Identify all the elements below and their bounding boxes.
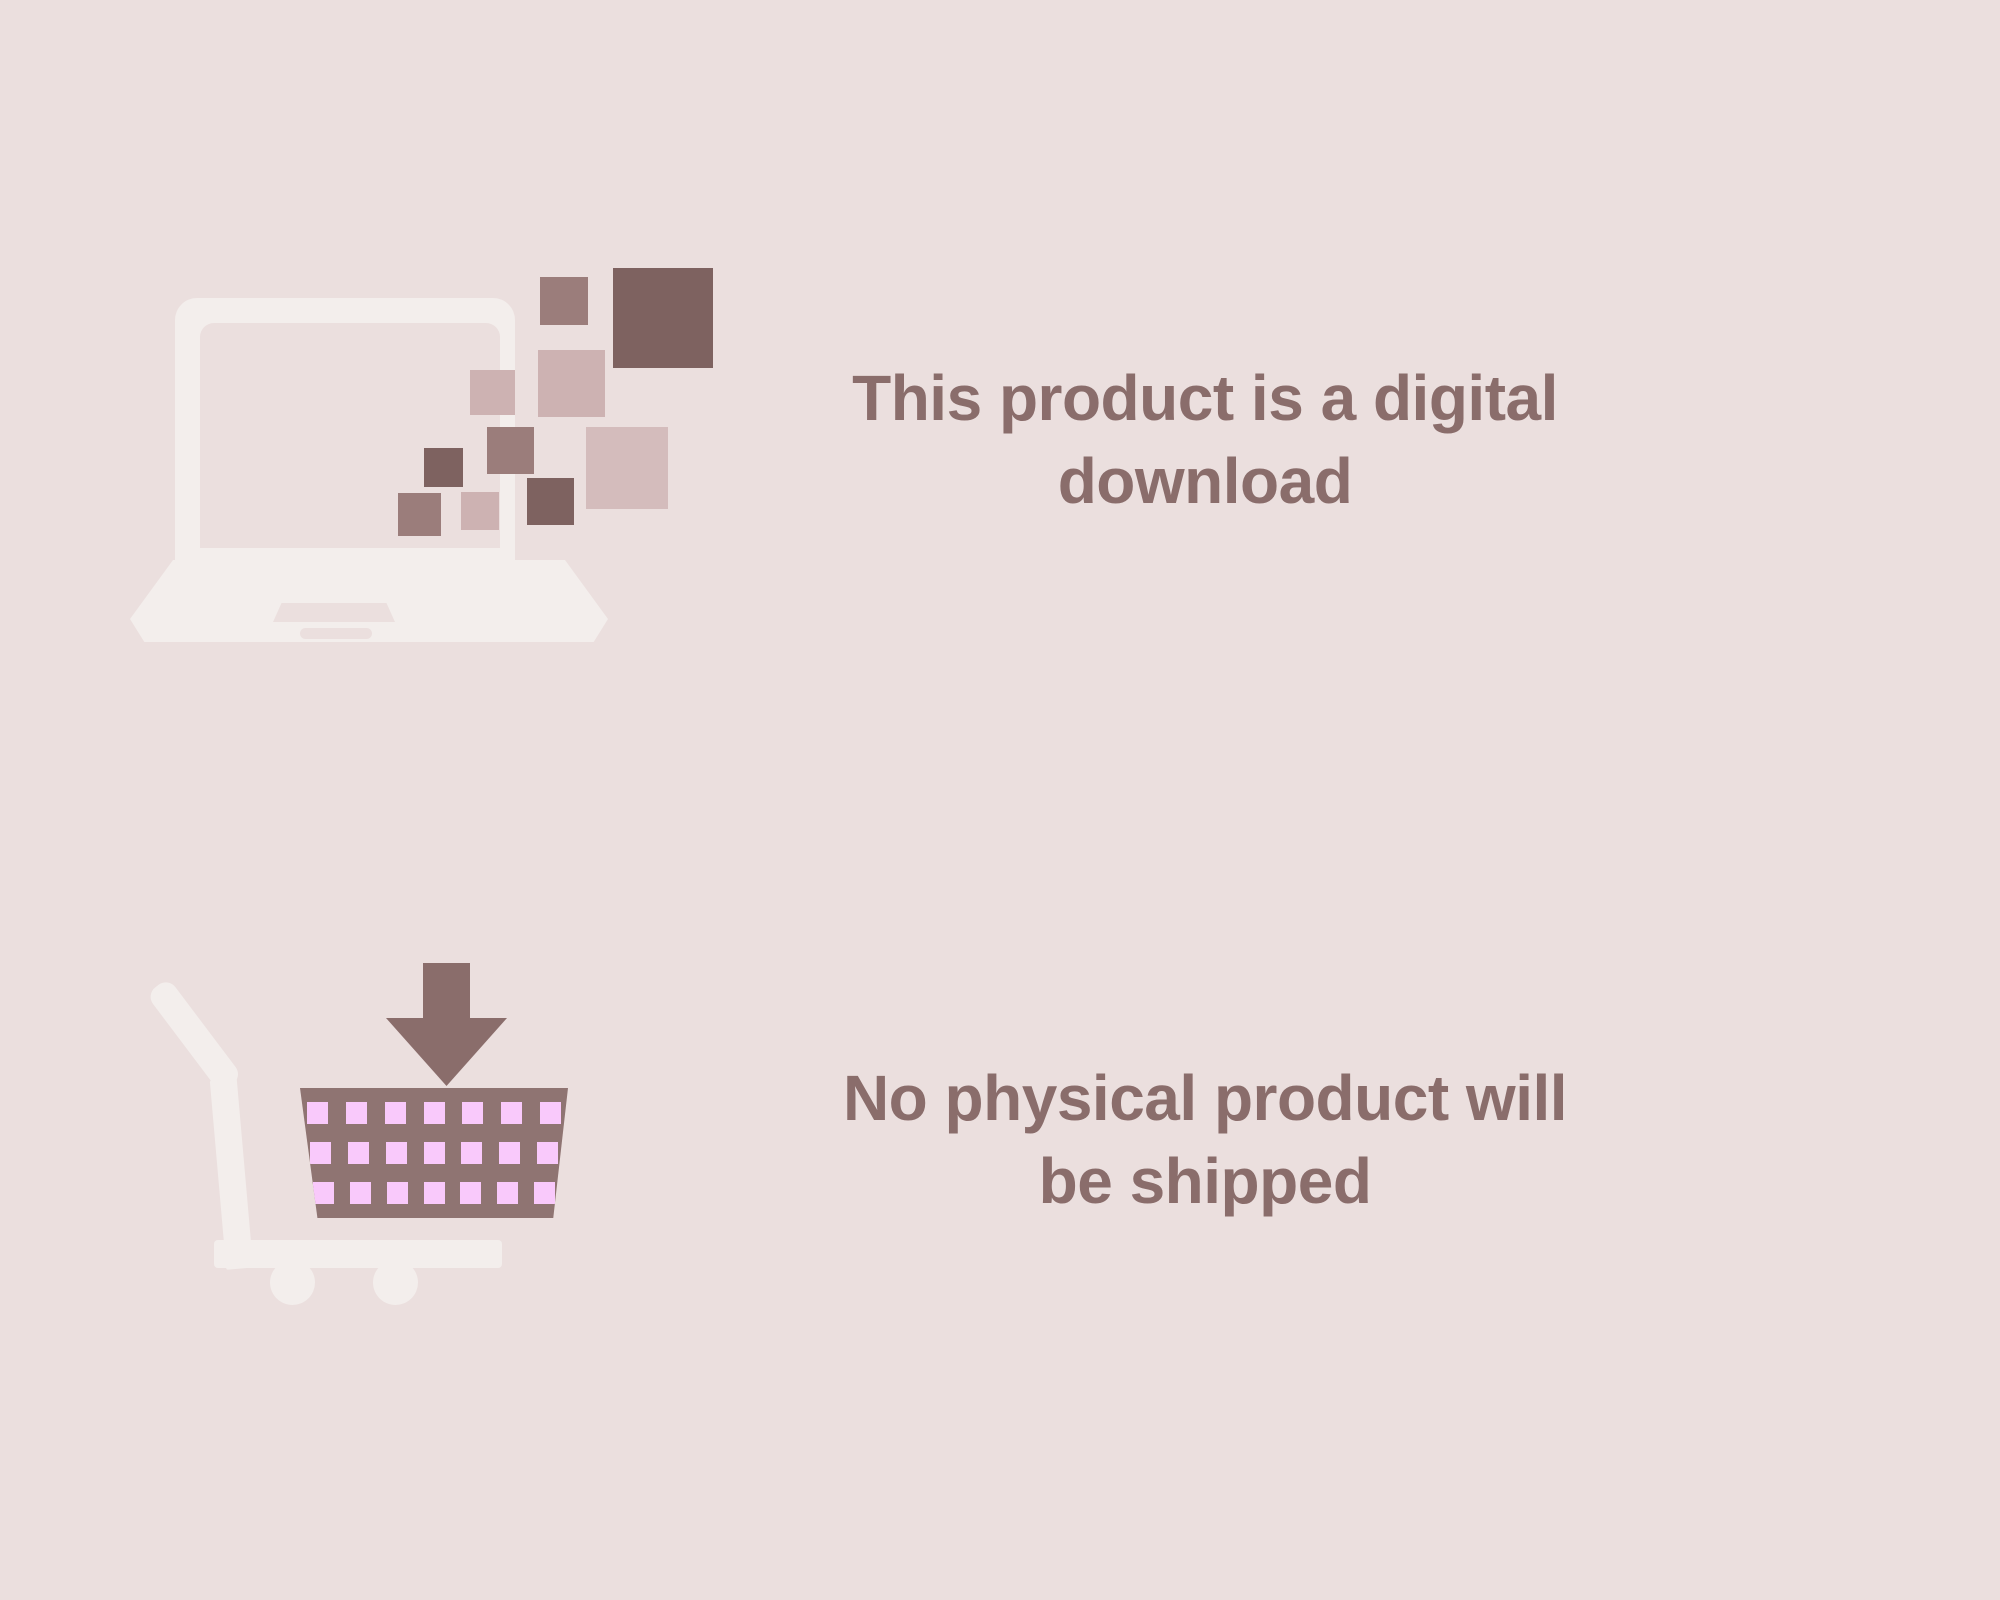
cart-grid-cell [534, 1182, 555, 1204]
pixel-square-3 [470, 370, 515, 415]
pixel-square-2 [613, 268, 713, 368]
laptop-screen-display [200, 323, 500, 548]
pixel-square-4 [538, 350, 605, 417]
cart-grid-cell [385, 1102, 406, 1124]
no-physical-product-text: No physical product will be shipped [690, 1057, 1720, 1223]
laptop-with-pixels-icon [130, 230, 690, 650]
poster-canvas: This product is a digital download No ph… [0, 0, 2000, 1600]
cart-grid-cell [424, 1182, 445, 1204]
cart-grid-cell [386, 1142, 407, 1164]
cart-grid-cell [460, 1182, 481, 1204]
pixel-square-8 [527, 478, 574, 525]
download-arrow-head [386, 1018, 507, 1086]
pixel-square-10 [461, 492, 499, 530]
pixel-square-1 [540, 277, 588, 325]
cart-grid-cell [346, 1102, 367, 1124]
cart-bottom-bar [214, 1240, 502, 1268]
download-arrow-stem [423, 963, 470, 1026]
cart-grid-cell [540, 1102, 561, 1124]
no-physical-product-text-line-1: No physical product will [690, 1057, 1720, 1140]
cart-grid-cell [387, 1182, 408, 1204]
cart-grid-cell [461, 1142, 482, 1164]
cart-handle-upper [146, 978, 243, 1094]
pixel-square-7 [424, 448, 463, 487]
laptop-front-lip [300, 628, 372, 639]
no-physical-product-text-line-2: be shipped [690, 1140, 1720, 1223]
cart-grid-cell [462, 1102, 483, 1124]
pixel-square-6 [487, 427, 534, 474]
no-physical-product-row: No physical product will be shipped [0, 930, 2000, 1350]
cart-grid-cell [424, 1142, 445, 1164]
cart-grid-cell [537, 1142, 558, 1164]
cart-handle [143, 986, 319, 1258]
cart-grid-cell [501, 1102, 522, 1124]
shopping-cart-download-icon [130, 940, 690, 1340]
laptop-trackpad [273, 603, 395, 622]
cart-basket-grid [300, 1088, 568, 1218]
digital-download-text-line-1: This product is a digital [690, 357, 1720, 440]
cart-wheel-left [270, 1260, 315, 1305]
pixel-square-5 [586, 427, 668, 509]
digital-download-text-line-2: download [690, 440, 1720, 523]
cart-grid-cell [424, 1102, 445, 1124]
cart-grid-cell [348, 1142, 369, 1164]
digital-download-row: This product is a digital download [0, 230, 2000, 650]
cart-grid-cell [497, 1182, 518, 1204]
cart-grid-cell [350, 1182, 371, 1204]
digital-download-text: This product is a digital download [690, 357, 1720, 523]
pixel-square-9 [398, 493, 441, 536]
cart-wheel-right [373, 1260, 418, 1305]
cart-grid-cell [499, 1142, 520, 1164]
